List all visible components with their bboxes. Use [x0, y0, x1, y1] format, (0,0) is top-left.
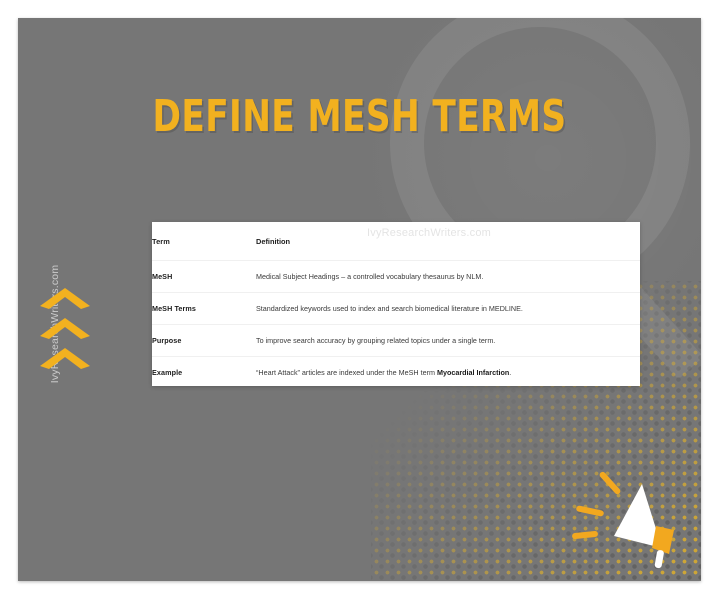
- chevron-up-icon: [38, 286, 92, 310]
- chevron-stack: [38, 286, 92, 376]
- definition-emphasis: Myocardial Infarction: [437, 368, 509, 377]
- megaphone-icon: [570, 468, 690, 568]
- definition-table-card: IvyResearchWriters.com Term Definition M…: [152, 222, 640, 386]
- cell-term: Purpose: [152, 325, 256, 357]
- definition-text: “Heart Attack” articles are indexed unde…: [256, 368, 437, 377]
- cell-term: MeSH Terms: [152, 293, 256, 325]
- cell-term: MeSH: [152, 261, 256, 293]
- table-row: PurposeTo improve search accuracy by gro…: [152, 325, 640, 357]
- cell-definition: Standardized keywords used to index and …: [256, 293, 640, 325]
- definition-text-suffix: .: [509, 368, 511, 377]
- table-row: MeSHMedical Subject Headings – a control…: [152, 261, 640, 293]
- chevron-up-icon: [38, 346, 92, 370]
- table-row: MeSH TermsStandardized keywords used to …: [152, 293, 640, 325]
- cell-definition: Medical Subject Headings – a controlled …: [256, 261, 640, 293]
- column-header-definition: Definition: [256, 222, 640, 261]
- slide-canvas: DEFINE MESH TERMS IvyResearchWriters.com…: [18, 18, 701, 581]
- table-row: Example“Heart Attack” articles are index…: [152, 357, 640, 387]
- table-header-row: Term Definition: [152, 222, 640, 261]
- megaphone-sound-waves-icon: [572, 471, 622, 540]
- column-header-term: Term: [152, 222, 256, 261]
- chevron-up-icon: [38, 316, 92, 340]
- cell-definition: To improve search accuracy by grouping r…: [256, 325, 640, 357]
- cell-term: Example: [152, 357, 256, 387]
- mesh-definition-table: Term Definition MeSHMedical Subject Head…: [152, 222, 640, 386]
- megaphone-cone-icon: [614, 484, 674, 568]
- table-body: MeSHMedical Subject Headings – a control…: [152, 261, 640, 387]
- table-header: Term Definition: [152, 222, 640, 261]
- cell-definition: “Heart Attack” articles are indexed unde…: [256, 357, 640, 387]
- page-title: DEFINE MESH TERMS: [93, 94, 626, 140]
